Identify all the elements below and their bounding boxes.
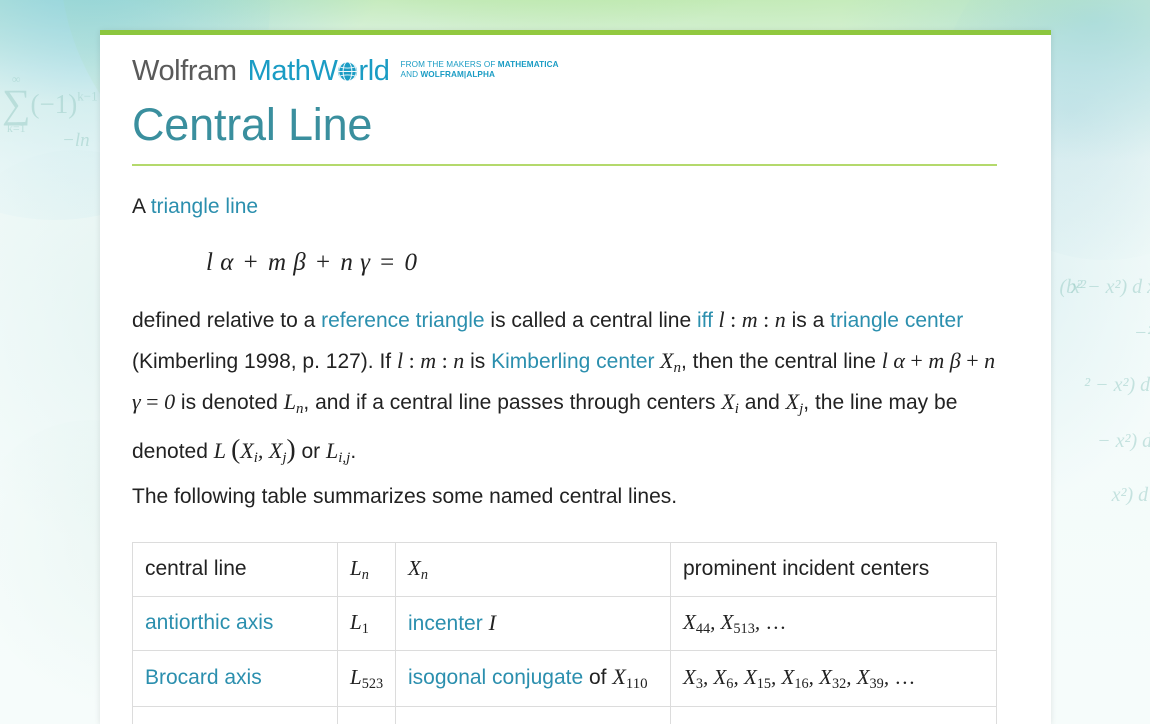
def-seg-12: . xyxy=(350,440,356,463)
cell-prominent-centers: X44, X513, … xyxy=(671,597,997,651)
background-formula-int-3: ² − x²) d x xyxy=(1084,374,1150,397)
def-seg-4: (Kimberling 1998, p. 127). If xyxy=(132,350,397,373)
cell-Ln-letter: L xyxy=(350,610,362,634)
math-LXi-sub: i xyxy=(254,450,258,466)
cell-Ln-letter: L xyxy=(350,665,362,689)
table-row: Brocard axis L523 isogonal conjugate of … xyxy=(133,650,997,706)
logo-mathworld-text: MathW rld xyxy=(248,57,390,86)
def-seg-11: or xyxy=(296,440,326,463)
header-Xn: Xn xyxy=(396,543,671,597)
page-title: Central Line xyxy=(132,100,996,150)
cell-prominent-centers: X3, X6, X15, X16, X32, X39, … xyxy=(671,650,997,706)
def-seg-7: is denoted xyxy=(175,391,284,414)
sum-exponent: k−1 xyxy=(77,89,97,104)
header-Ln-sub: n xyxy=(362,567,369,583)
link-kimberling-center[interactable]: Kimberling center xyxy=(491,350,654,373)
def-seg-6: , then the central line xyxy=(681,350,882,373)
sum-lower-limit: k=1 xyxy=(2,123,31,134)
cell-Xn-value[interactable]: incenter I xyxy=(396,597,671,651)
background-formula-ln: −ln xyxy=(62,130,90,152)
link-reference-triangle[interactable]: reference triangle xyxy=(321,309,484,332)
math-Xn-sub: n xyxy=(673,360,680,376)
cell-prominent-centers xyxy=(671,706,997,724)
logo-world-w: W xyxy=(311,57,338,86)
tagline-bold-1: MATHEMATICA xyxy=(498,60,559,69)
header-central-line: central line xyxy=(133,543,338,597)
link-isogonal-conjugate[interactable]: isogonal conjugate xyxy=(408,666,583,689)
def-seg-5: is xyxy=(464,350,491,373)
cell-Ln-sub: 523 xyxy=(362,676,383,692)
article-body: A triangle line l α + m β + n γ = 0 defi… xyxy=(132,188,996,517)
link-triangle-center[interactable]: triangle center xyxy=(830,309,963,332)
math-ratio-1: l : m : n xyxy=(713,307,786,332)
header-Ln: Ln xyxy=(338,543,396,597)
math-X110: X110 xyxy=(612,664,647,689)
def-seg-8: , and if a central line passes through c… xyxy=(303,391,721,414)
background-formula-int-5: x²) d x xyxy=(1112,484,1150,507)
math-X110-sub: 110 xyxy=(626,676,648,692)
table-row xyxy=(133,706,997,724)
table-row: antiorthic axis L1 incenter I X44, X513,… xyxy=(133,597,997,651)
cell-central-line-name[interactable]: Brocard axis xyxy=(133,650,338,706)
header-Xn-letter: X xyxy=(408,556,421,580)
background-formula-sum: ∞ ∑ k=1 (−1)k−1 xyxy=(2,74,98,135)
tagline-bold-2: WOLFRAM|ALPHA xyxy=(420,70,495,79)
background-formula-int-1: (b² − x²) d x xyxy=(1059,276,1150,299)
cell-Ln-sub: 1 xyxy=(362,621,369,637)
link-incenter[interactable]: incenter xyxy=(408,612,483,635)
math-X110-letter: X xyxy=(612,664,625,689)
cell-Xn-value[interactable] xyxy=(396,706,671,724)
sum-body: (−1) xyxy=(31,89,78,119)
def-seg-1: defined relative to a xyxy=(132,309,321,332)
def-seg-2: is called a central line xyxy=(485,309,697,332)
tagline-line-2: AND WOLFRAM|ALPHA xyxy=(401,70,559,80)
cell-central-line-name[interactable] xyxy=(133,706,338,724)
background-formula-int-2: −²) xyxy=(1134,322,1150,345)
logo-world-rld: rld xyxy=(358,57,389,86)
paragraph-table-intro: The following table summarizes some name… xyxy=(132,478,996,517)
math-Ln: Ln xyxy=(284,389,304,414)
link-brocard-axis[interactable]: Brocard axis xyxy=(145,666,262,689)
def-seg-3: is a xyxy=(786,309,830,332)
math-Xn: Xn xyxy=(655,348,681,373)
tagline-line-1: FROM THE MAKERS OF MATHEMATICA xyxy=(401,60,559,70)
cell-central-line-name[interactable]: antiorthic axis xyxy=(133,597,338,651)
title-divider xyxy=(132,164,997,166)
cell-Ln-value: L523 xyxy=(338,650,396,706)
cell-Ln-value xyxy=(338,706,396,724)
logo-tagline: FROM THE MAKERS OF MATHEMATICA AND WOLFR… xyxy=(401,60,559,79)
math-Lij: Li,j xyxy=(326,438,350,463)
content-card: Wolfram MathW rld F xyxy=(100,30,1051,724)
math-ratio-2: l : m : n xyxy=(397,348,464,373)
math-L-Xi-Xj: L (Xi, Xj) xyxy=(214,438,296,463)
math-Lij-sub: i,j xyxy=(338,450,350,466)
central-lines-table: central line Ln Xn prominent incident ce… xyxy=(132,542,997,724)
cell-Xn-value[interactable]: isogonal conjugate of X110 xyxy=(396,650,671,706)
link-iff[interactable]: iff xyxy=(697,309,713,332)
header-prominent-centers: prominent incident centers xyxy=(671,543,997,597)
globe-icon xyxy=(337,59,358,80)
display-equation: l α + m β + n γ = 0 xyxy=(206,240,996,286)
logo-math-word: Math xyxy=(248,57,311,86)
site-logo[interactable]: Wolfram MathW rld F xyxy=(132,57,996,86)
math-incenter-I: I xyxy=(489,610,496,635)
sum-symbol: ∑ xyxy=(2,85,31,123)
equation-text: l α + m β + n γ = 0 xyxy=(206,249,418,276)
paragraph-intro: A triangle line xyxy=(132,188,996,227)
sum-upper-limit: ∞ xyxy=(2,74,31,85)
logo-wolfram-text: Wolfram xyxy=(132,57,237,86)
background-formula-x2: x² xyxy=(1071,276,1086,299)
table-header-row: central line Ln Xn prominent incident ce… xyxy=(133,543,997,597)
tagline-plain-2: AND xyxy=(401,70,421,79)
paragraph-definition: defined relative to a reference triangle… xyxy=(132,300,996,475)
link-antiorthic-axis[interactable]: antiorthic axis xyxy=(145,611,273,634)
header-Xn-sub: n xyxy=(421,567,428,583)
def-seg-9: and xyxy=(739,391,786,414)
cell-Ln-value: L1 xyxy=(338,597,396,651)
link-triangle-line[interactable]: triangle line xyxy=(151,195,258,218)
background-formula-int-4: − x²) d x xyxy=(1097,430,1150,453)
math-Xj: Xj xyxy=(786,389,804,414)
cell-Xn-plain: of xyxy=(583,666,612,689)
tagline-plain-1: FROM THE MAKERS OF xyxy=(401,60,498,69)
header-Ln-letter: L xyxy=(350,556,362,580)
math-Xi: Xi xyxy=(721,389,739,414)
intro-prefix: A xyxy=(132,195,151,218)
